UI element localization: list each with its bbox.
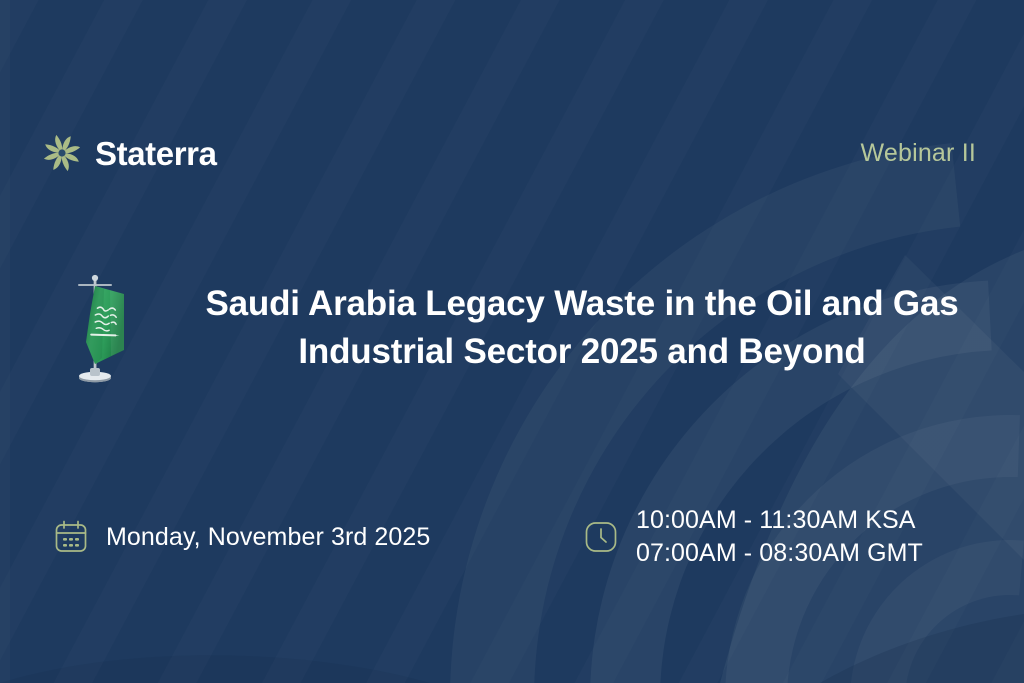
event-time-ksa: 10:00AM - 11:30AM KSA	[636, 504, 923, 537]
title-block: Saudi Arabia Legacy Waste in the Oil and…	[0, 280, 1024, 377]
brand-name: Staterra	[95, 137, 217, 170]
banner-header: Staterra Webinar II	[42, 126, 976, 180]
calendar-icon	[52, 518, 90, 556]
event-details-row: Monday, November 3rd 2025 10:00AM - 11:3…	[52, 500, 972, 580]
title-line-1: Saudi Arabia Legacy Waste in the Oil and…	[182, 280, 982, 328]
swirl-flower-logo-icon	[42, 133, 82, 173]
webinar-number-label: Webinar II	[861, 139, 976, 168]
event-time: 10:00AM - 11:30AM KSA 07:00AM - 08:30AM …	[582, 504, 923, 570]
clock-icon	[582, 518, 620, 556]
event-time-gmt: 07:00AM - 08:30AM GMT	[636, 537, 923, 570]
brand-logo: Staterra	[42, 133, 217, 173]
title-line-2: Industrial Sector 2025 and Beyond	[182, 328, 982, 376]
saudi-arabia-table-flag-icon	[62, 268, 130, 390]
webinar-banner: Staterra Webinar II	[0, 0, 1024, 683]
event-date-value: Monday, November 3rd 2025	[106, 521, 430, 554]
event-time-values: 10:00AM - 11:30AM KSA 07:00AM - 08:30AM …	[636, 504, 923, 570]
page-title: Saudi Arabia Legacy Waste in the Oil and…	[182, 280, 982, 377]
event-date: Monday, November 3rd 2025	[52, 518, 430, 556]
